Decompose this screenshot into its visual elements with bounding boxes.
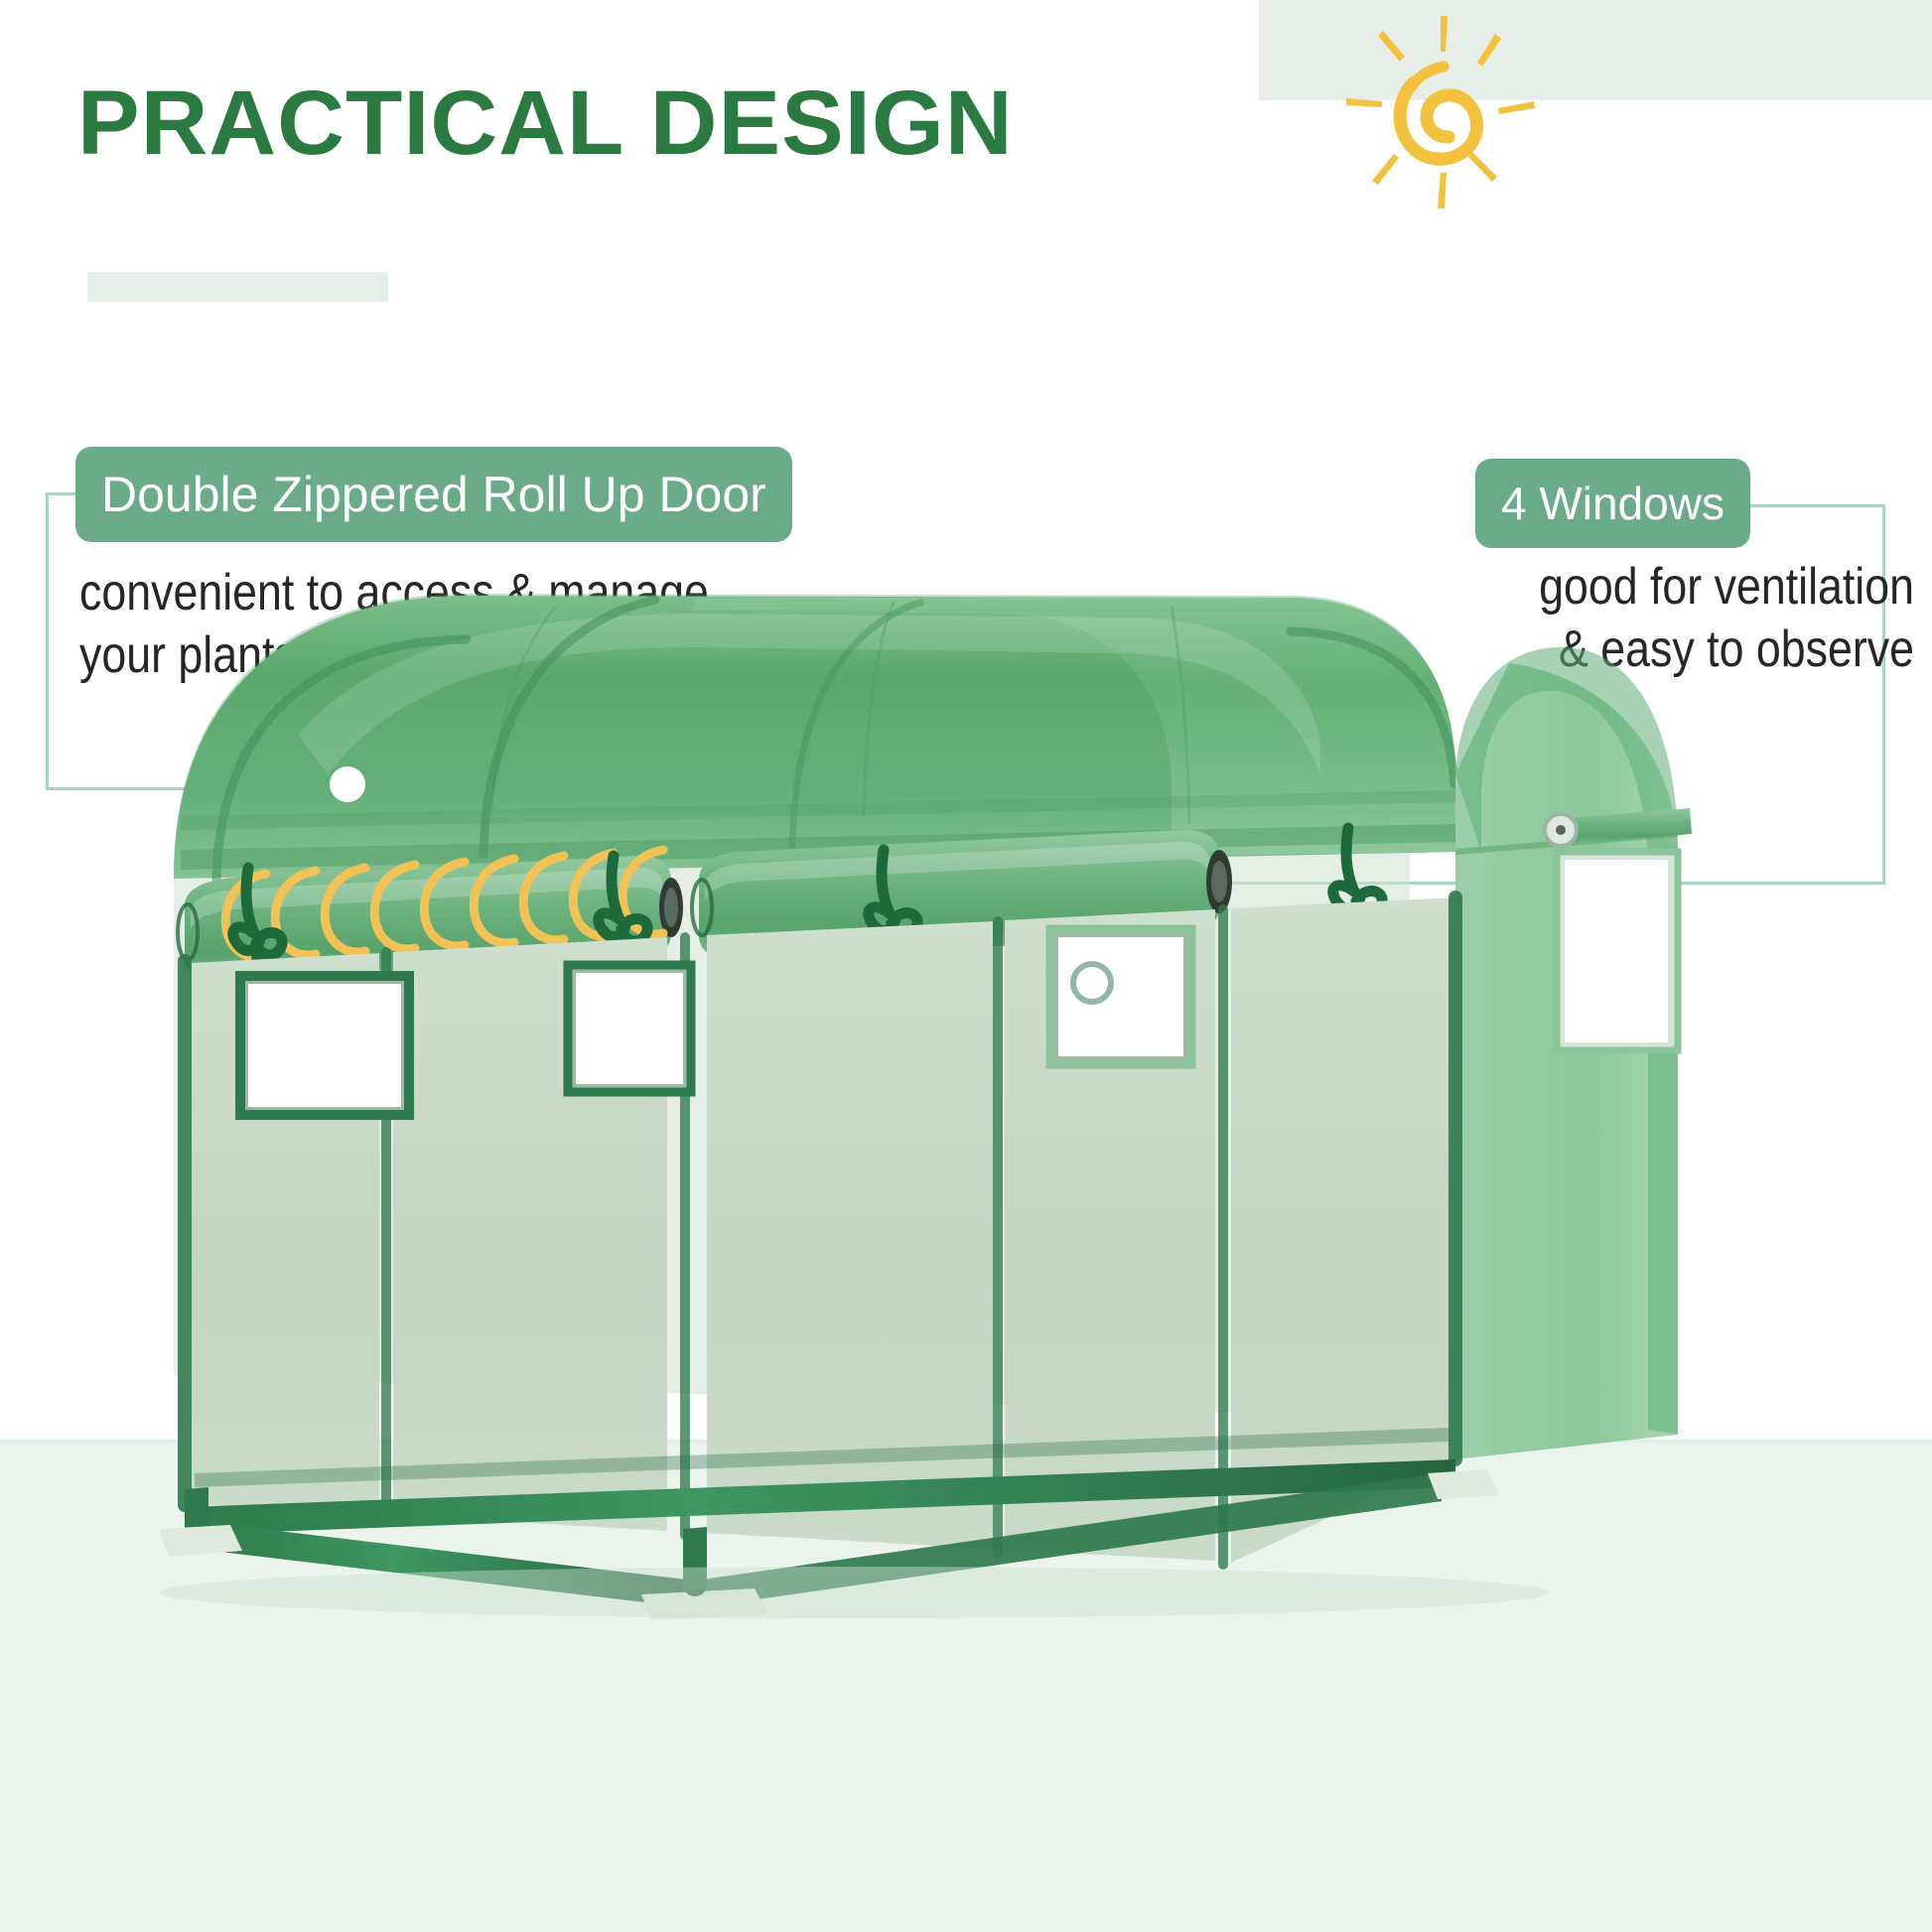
hotspot-door — [330, 766, 365, 802]
greenhouse-window-2 — [568, 965, 691, 1092]
title-accent-bar — [87, 272, 388, 302]
greenhouse-window-1 — [240, 976, 409, 1115]
greenhouse-window-side — [1557, 852, 1678, 1050]
greenhouse-illustration — [0, 536, 1932, 1648]
page-title: PRACTICAL DESIGN — [77, 71, 1014, 176]
callout-badge-door: Double Zippered Roll Up Door — [75, 447, 792, 542]
callout-badge-windows: 4 Windows — [1475, 459, 1750, 548]
greenhouse-window-3 — [1050, 929, 1191, 1064]
infographic-page: PRACTICAL DESIGN Double Zippere — [0, 0, 1932, 1932]
sun-spiral-icon — [1338, 10, 1547, 218]
